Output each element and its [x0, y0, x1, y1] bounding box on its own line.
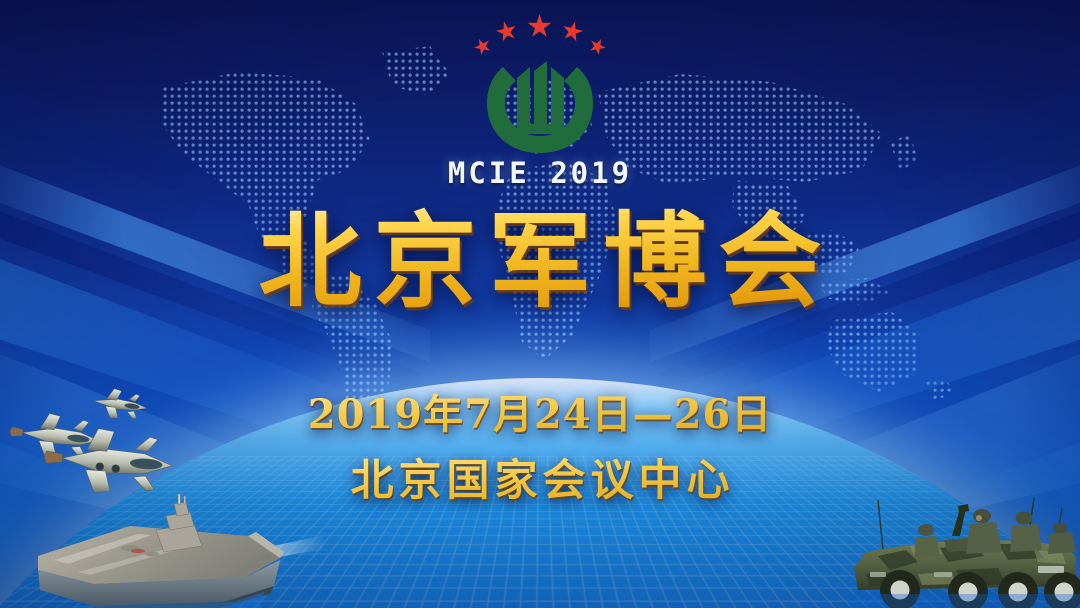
armored-vehicle-image: [848, 494, 1080, 608]
fighter-jets-image: [6, 378, 216, 498]
military-expo-poster: MCIE 2019 北京军博会 2019年7月24日—26日 北京国家会议中心: [0, 0, 1080, 608]
logo-wordmark: MCIE 2019: [448, 156, 632, 190]
aircraft-carrier-image: [34, 494, 324, 608]
star-icon: [494, 19, 519, 44]
star-icon: [560, 19, 585, 44]
page-title: 北京军博会: [0, 206, 1080, 317]
star-icon: [527, 14, 552, 39]
logo-block: MCIE 2019: [0, 14, 1080, 190]
mcie-green-circular-emblem: [484, 54, 596, 154]
